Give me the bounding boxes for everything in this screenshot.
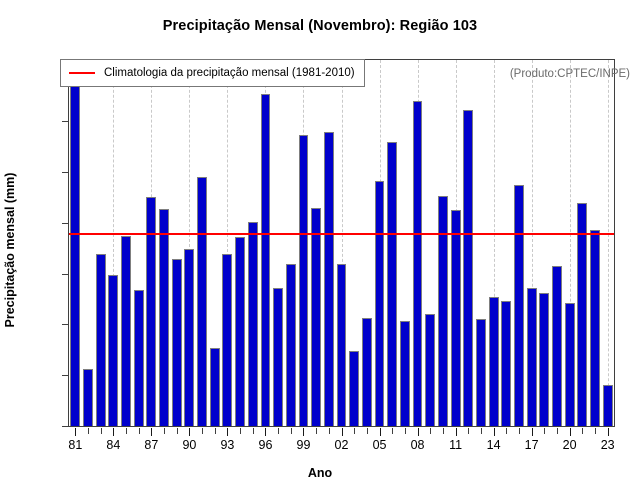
x-axis-tick-minor — [164, 428, 165, 434]
bar — [299, 135, 309, 426]
x-axis-tick-major — [303, 428, 304, 436]
bar — [324, 132, 334, 426]
bar — [261, 94, 271, 426]
x-axis-tick-minor — [253, 428, 254, 434]
product-credit: (Produto:CPTEC/INPE) — [510, 68, 630, 80]
bar — [514, 185, 524, 426]
bar — [349, 351, 359, 426]
x-axis-tick-minor — [291, 428, 292, 434]
bar — [425, 314, 435, 426]
x-axis-tick-label: 96 — [259, 438, 273, 452]
x-axis-tick-label: 11 — [449, 438, 462, 452]
bar — [273, 288, 283, 426]
y-axis-tick — [62, 172, 68, 173]
x-axis-tick-major — [380, 428, 381, 436]
x-axis-tick-major — [570, 428, 571, 436]
bar — [337, 264, 347, 426]
x-axis-tick-label: 81 — [68, 438, 82, 452]
bar — [375, 181, 385, 426]
x-axis-tick-minor — [468, 428, 469, 434]
x-axis-tick-label: 84 — [106, 438, 120, 452]
x-axis-tick-minor — [519, 428, 520, 434]
x-axis-tick-minor — [316, 428, 317, 434]
x-axis-tick-major — [342, 428, 343, 436]
bar — [159, 209, 169, 426]
bar — [70, 86, 80, 426]
bar — [184, 249, 194, 426]
x-axis-tick-minor — [177, 428, 178, 434]
legend: Climatologia da precipitação mensal (198… — [60, 59, 365, 87]
x-axis-tick-minor — [240, 428, 241, 434]
x-axis-tick-minor — [101, 428, 102, 434]
x-axis-tick-minor — [481, 428, 482, 434]
climatology-reference-line — [69, 233, 614, 235]
bar — [451, 210, 461, 426]
x-axis-tick-label: 17 — [525, 438, 539, 452]
bar — [108, 275, 118, 426]
bar — [197, 177, 207, 426]
x-axis-tick-major — [456, 428, 457, 436]
x-axis-tick-major — [494, 428, 495, 436]
bar — [552, 266, 562, 426]
x-axis-tick-label: 20 — [563, 438, 577, 452]
x-axis-label: Ano — [0, 466, 640, 480]
x-axis-tick-minor — [88, 428, 89, 434]
y-axis-tick — [62, 121, 68, 122]
y-axis-tick — [62, 426, 68, 427]
x-axis-tick-minor — [443, 428, 444, 434]
x-axis-tick-minor — [367, 428, 368, 434]
x-axis-tick-minor — [405, 428, 406, 434]
y-axis-tick — [62, 324, 68, 325]
bar — [134, 290, 144, 426]
bar — [501, 301, 511, 426]
x-axis-tick-minor — [430, 428, 431, 434]
bar — [210, 348, 220, 426]
bar — [222, 254, 232, 426]
x-axis-tick-label: 87 — [144, 438, 158, 452]
x-axis-tick-major — [151, 428, 152, 436]
y-axis-tick — [62, 223, 68, 224]
x-axis-tick-minor — [139, 428, 140, 434]
x-axis-tick-major — [113, 428, 114, 436]
bar-series — [69, 60, 614, 426]
bar — [248, 222, 258, 426]
y-axis-tick — [62, 274, 68, 275]
x-axis-tick-label: 08 — [411, 438, 425, 452]
x-axis-tick-major — [265, 428, 266, 436]
chart-title: Precipitação Mensal (Novembro): Região 1… — [0, 18, 640, 34]
x-axis-tick-label: 23 — [601, 438, 615, 452]
bar — [590, 230, 600, 426]
bar — [438, 196, 448, 426]
x-axis-tick-minor — [278, 428, 279, 434]
x-axis-tick-minor — [582, 428, 583, 434]
x-axis-tick-minor — [329, 428, 330, 434]
bar — [476, 319, 486, 426]
bar — [577, 203, 587, 426]
legend-label: Climatologia da precipitação mensal (198… — [104, 67, 355, 79]
x-axis-tick-minor — [215, 428, 216, 434]
legend-line-swatch — [69, 72, 95, 74]
bar — [603, 385, 613, 426]
bar — [463, 110, 473, 426]
bar — [172, 259, 182, 426]
x-axis-tick-label: 14 — [487, 438, 501, 452]
plot-inner — [69, 60, 614, 426]
x-axis-tick-major — [189, 428, 190, 436]
x-axis-tick-label: 99 — [297, 438, 311, 452]
x-axis-tick-minor — [392, 428, 393, 434]
bar — [96, 254, 106, 426]
bar — [362, 318, 372, 426]
x-axis-tick-minor — [595, 428, 596, 434]
bar — [311, 208, 321, 426]
x-axis-tick-major — [532, 428, 533, 436]
bar — [387, 142, 397, 426]
chart-figure: Precipitação Mensal (Novembro): Região 1… — [0, 0, 640, 500]
y-axis-label: Precipitação mensal (mm) — [3, 100, 17, 400]
bar — [489, 297, 499, 426]
x-axis-tick-major — [227, 428, 228, 436]
bar — [527, 288, 537, 426]
x-axis-tick-label: 90 — [182, 438, 196, 452]
x-axis-tick-label: 02 — [335, 438, 349, 452]
x-axis-tick-minor — [202, 428, 203, 434]
x-axis-tick-label: 93 — [220, 438, 234, 452]
bar — [121, 236, 131, 426]
x-axis-tick-minor — [506, 428, 507, 434]
bar — [539, 293, 549, 426]
x-axis-tick-minor — [126, 428, 127, 434]
y-axis-tick — [62, 375, 68, 376]
x-axis-tick-minor — [544, 428, 545, 434]
bar — [146, 197, 156, 426]
bar — [235, 237, 245, 426]
bar — [413, 101, 423, 426]
bar — [565, 303, 575, 426]
x-axis-tick-minor — [354, 428, 355, 434]
x-axis-tick-major — [608, 428, 609, 436]
plot-area — [68, 59, 615, 427]
bar — [83, 369, 93, 426]
bar — [400, 321, 410, 426]
x-axis-tick-minor — [557, 428, 558, 434]
x-axis-tick-major — [75, 428, 76, 436]
x-axis-tick-major — [418, 428, 419, 436]
x-axis-tick-label: 05 — [373, 438, 387, 452]
bar — [286, 264, 296, 426]
